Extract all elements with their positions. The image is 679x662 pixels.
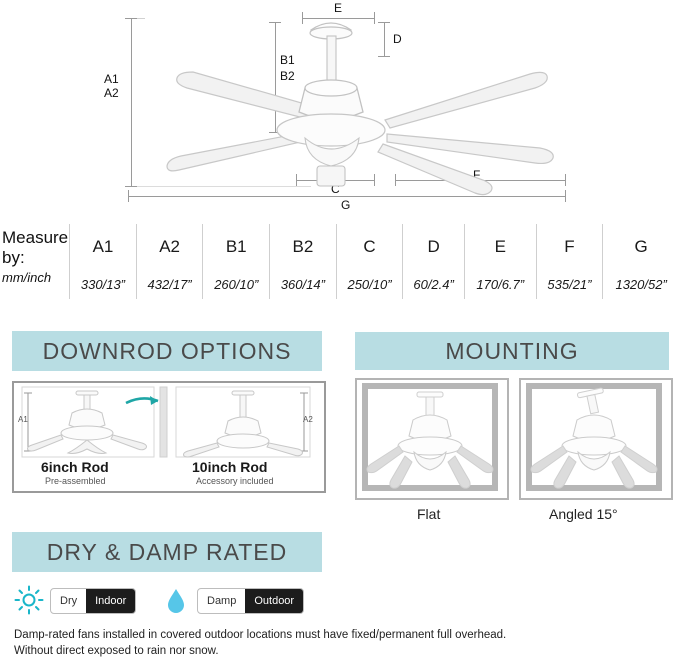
table-row-values: mm/inch 330/13” 432/17” 260/10” 360/14” … [0,269,679,299]
table-value-b2: 360/14” [270,269,337,299]
table-col-d: D [403,224,465,269]
table-col-b1: B1 [203,224,270,269]
downrod-option2-title: 10inch Rod [192,459,267,475]
dry-label: Dry [51,589,86,613]
downrod-dim-a2-label: A2 [303,415,313,424]
table-col-g: G [603,224,679,269]
table-value-e: 170/6.7” [464,269,536,299]
table-row-label-measure: Measure by: [0,224,70,269]
table-value-c: 250/10” [336,269,403,299]
dim-tick-g-left [128,190,129,202]
outdoor-label: Outdoor [245,589,303,613]
sun-icon [14,585,44,615]
table-col-a2: A2 [136,224,203,269]
dim-label-a2: A2 [104,87,119,100]
table-value-g: 1320/52” [603,269,679,299]
table-col-c: C [336,224,403,269]
mounting-angled-panel [519,378,673,500]
table-col-a1: A1 [70,224,137,269]
table-col-b2: B2 [270,224,337,269]
table-value-b1: 260/10” [203,269,270,299]
table-value-d: 60/2.4” [403,269,465,299]
downrod-option2-subtitle: Accessory included [196,476,274,486]
dry-damp-rated-title: DRY & DAMP RATED [12,532,322,572]
dimension-table: Measure by: A1 A2 B1 B2 C D E F G mm/inc… [0,224,679,299]
mounting-flat-caption: Flat [417,506,440,522]
downrod-dim-a1-label: A1 [18,415,28,424]
downrod-options-title: DOWNROD OPTIONS [12,331,322,371]
table-value-f: 535/21” [536,269,603,299]
dim-line-a-vertical [131,18,132,186]
mounting-angled-illustration [521,380,667,494]
damp-outdoor-badge: Damp Outdoor [197,588,304,614]
table-row-label-units: mm/inch [0,269,70,299]
table-value-a1: 330/13” [70,269,137,299]
table-row-headers: Measure by: A1 A2 B1 B2 C D E F G [0,224,679,269]
dry-indoor-badge: Dry Indoor [50,588,136,614]
downrod-option1-title: 6inch Rod [41,459,109,475]
water-drop-icon [165,586,187,614]
mounting-angled-caption: Angled 15° [549,506,618,522]
mounting-flat-panel [355,378,509,500]
mounting-flat-illustration [357,380,503,494]
product-spec-sheet: A1 A2 E D B1 B2 C F G [0,0,679,662]
ceiling-fan-illustration [135,8,595,208]
indoor-label: Indoor [86,589,135,613]
table-col-f: F [536,224,603,269]
rating-footnote-line2: Without direct exposed to rain nor snow. [14,643,664,659]
dim-label-a1: A1 [104,73,119,86]
downrod-option1-subtitle: Pre-assembled [45,476,106,486]
rating-footnote-line1: Damp-rated fans installed in covered out… [14,627,664,643]
table-value-a2: 432/17” [136,269,203,299]
fan-dimension-diagram: A1 A2 E D B1 B2 C F G [0,0,679,210]
mounting-title: MOUNTING [355,332,669,370]
damp-label: Damp [198,589,245,613]
table-col-e: E [464,224,536,269]
